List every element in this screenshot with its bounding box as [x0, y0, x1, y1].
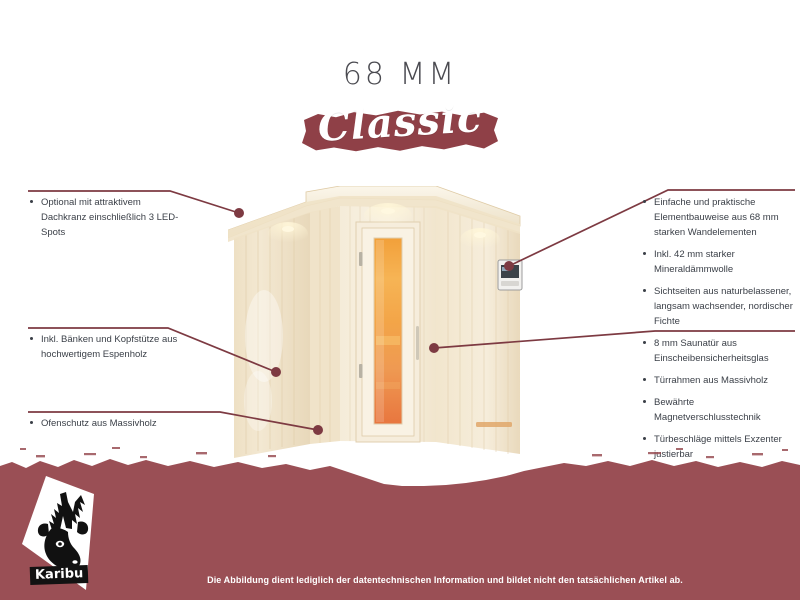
sauna-glass-door [356, 222, 420, 442]
callout-item: Sichtseiten aus naturbelassener, langsam… [641, 284, 799, 329]
callout-benches-headrest: Inkl. Bänken und Kopfstütze aus hochwert… [28, 332, 188, 369]
callout-item: Bewährte Magnetverschlusstechnik [641, 395, 799, 425]
callout-item: Inkl. 42 mm starker Mineraldämmwolle [641, 247, 799, 277]
product-info-sheet: 68 MM Classic [0, 0, 800, 600]
badge-brush-shape [300, 108, 500, 154]
header: 68 MM Classic [0, 60, 800, 159]
callout-item: 8 mm Saunatür aus Einscheibensicherheits… [641, 336, 799, 366]
callout-wall-construction: Einfache und praktische Elementbauweise … [641, 195, 799, 336]
callout-roof-crown-led: Optional mit attraktivem Dachkranz einsc… [28, 195, 188, 247]
disclaimer-text: Die Abbildung dient lediglich der datent… [0, 575, 800, 585]
callout-item: Einfache und praktische Elementbauweise … [641, 195, 799, 240]
sauna-control-panel [498, 260, 522, 290]
callout-stove-guard: Ofenschutz aus Massivholz [28, 416, 198, 438]
callout-item: Ofenschutz aus Massivholz [28, 416, 198, 431]
sauna-corner-panel [310, 206, 340, 444]
sauna-left-wall [234, 212, 310, 458]
sauna-product-image [228, 186, 528, 480]
callout-item: Inkl. Bänken und Kopfstütze aus hochwert… [28, 332, 188, 362]
page-title: 68 MM [0, 60, 800, 90]
callout-item: Optional mit attraktivem Dachkranz einsc… [28, 195, 188, 240]
callout-item: Türrahmen aus Massivholz [641, 373, 799, 388]
product-badge: Classic [300, 108, 500, 154]
